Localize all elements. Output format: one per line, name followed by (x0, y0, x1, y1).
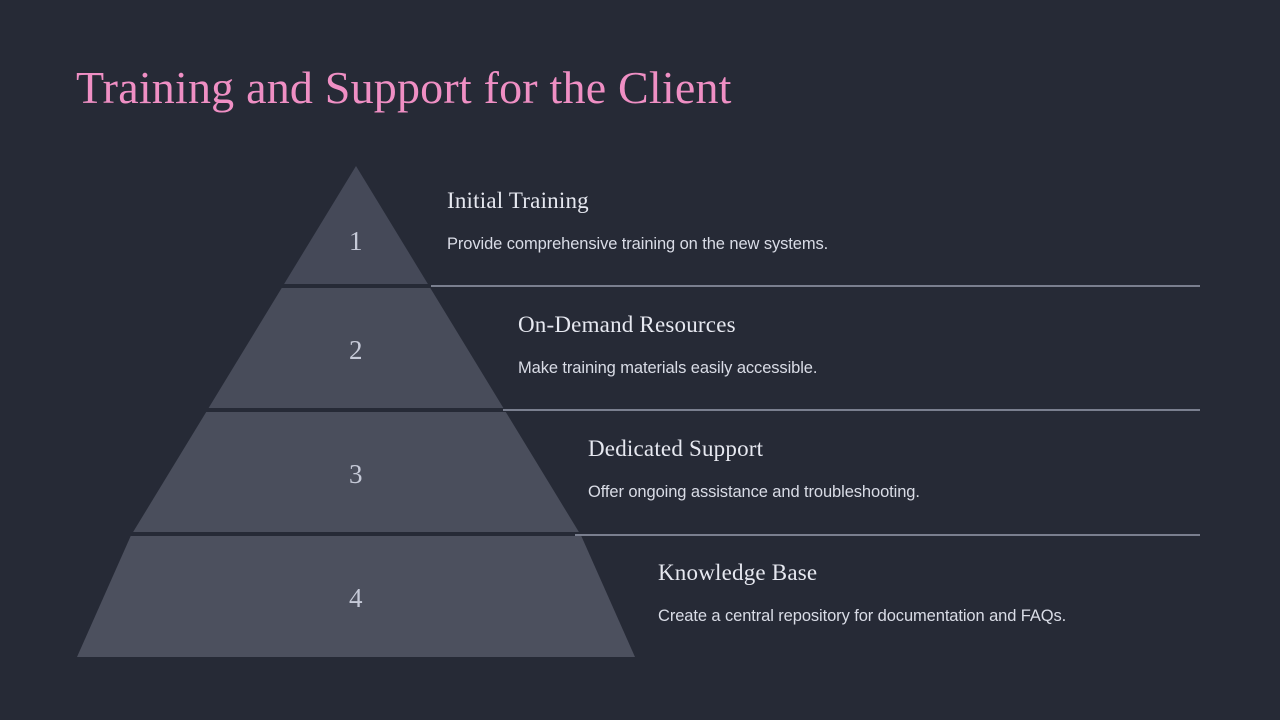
pyramid-row-3: Dedicated Support Offer ongoing assistan… (588, 436, 1200, 502)
pyramid-segment-2 (209, 288, 504, 408)
pyramid-number-4: 4 (296, 583, 416, 614)
row-separator-3 (575, 534, 1200, 536)
pyramid-segment-3 (133, 412, 579, 532)
slide-canvas: Training and Support for the Client 1 2 … (0, 0, 1280, 720)
row-description-3: Offer ongoing assistance and troubleshoo… (588, 483, 1200, 502)
row-heading-4: Knowledge Base (658, 560, 1200, 586)
pyramid-row-2: On-Demand Resources Make training materi… (518, 312, 1200, 378)
pyramid-number-1: 1 (296, 226, 416, 257)
row-description-2: Make training materials easily accessibl… (518, 359, 1200, 378)
row-separator-2 (503, 409, 1200, 411)
pyramid-row-1: Initial Training Provide comprehensive t… (447, 188, 1200, 254)
row-description-1: Provide comprehensive training on the ne… (447, 235, 1200, 254)
page-title: Training and Support for the Client (76, 62, 732, 114)
row-separator-1 (431, 285, 1200, 287)
pyramid-number-2: 2 (296, 335, 416, 366)
pyramid-segment-4 (77, 536, 635, 657)
pyramid-segment-1 (284, 166, 428, 284)
row-heading-1: Initial Training (447, 188, 1200, 214)
row-heading-3: Dedicated Support (588, 436, 1200, 462)
pyramid-number-3: 3 (296, 459, 416, 490)
row-heading-2: On-Demand Resources (518, 312, 1200, 338)
pyramid-row-4: Knowledge Base Create a central reposito… (658, 560, 1200, 626)
row-description-4: Create a central repository for document… (658, 607, 1200, 626)
